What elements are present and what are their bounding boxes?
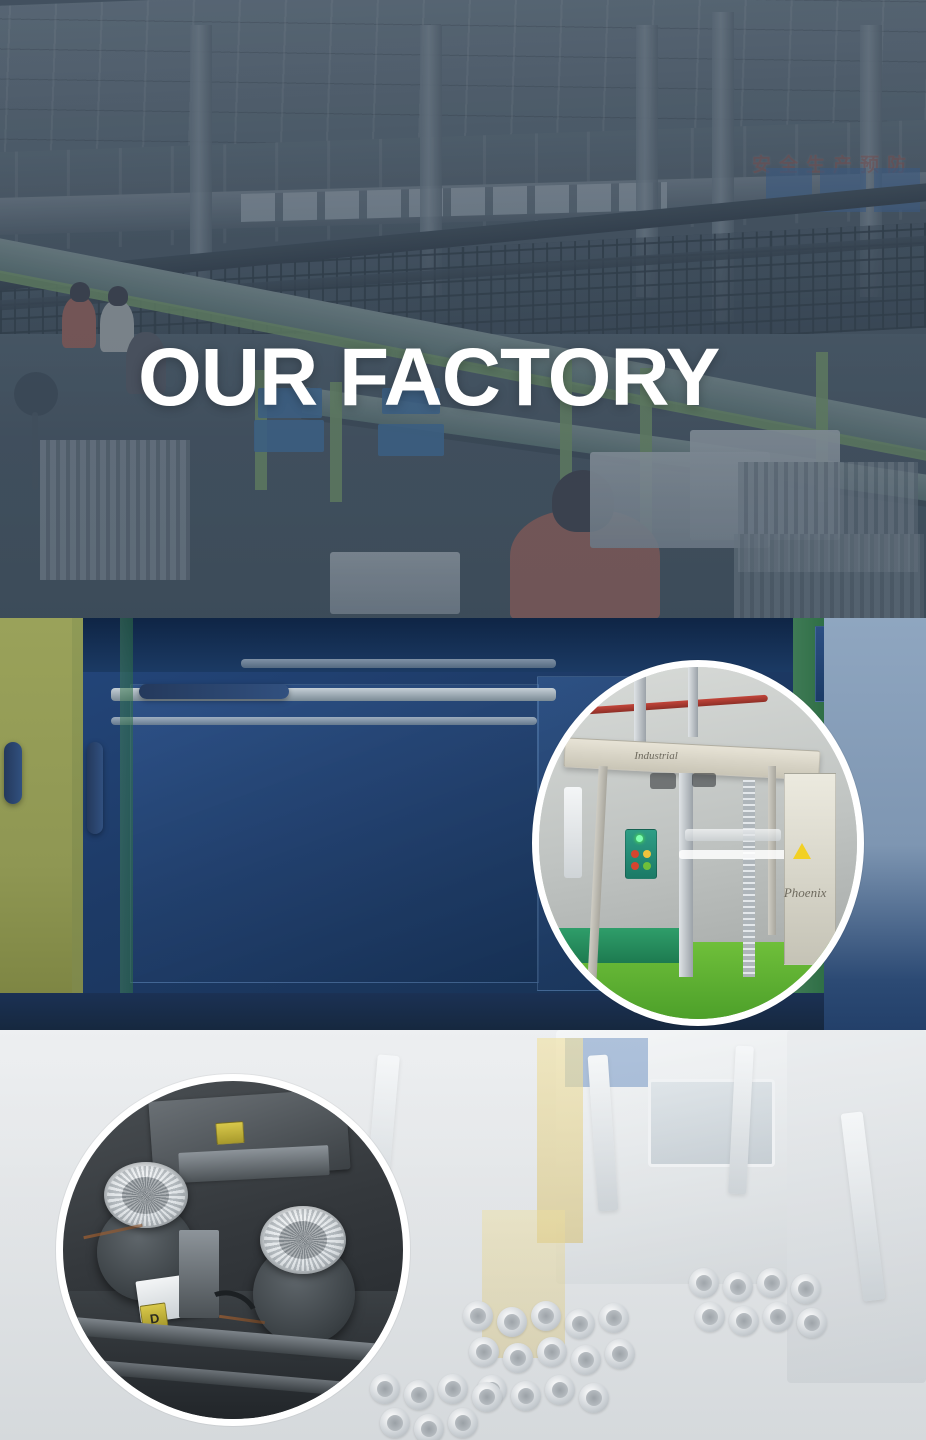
scene-cool-overlay <box>0 0 926 618</box>
door-handle <box>87 742 103 834</box>
yellow-id-label <box>215 1121 244 1145</box>
tie-bar <box>111 717 537 725</box>
machining-workshop-scene: D <box>0 1030 926 1440</box>
gripper-head <box>692 773 716 787</box>
green-column <box>120 618 133 1030</box>
tie-bar <box>241 659 556 668</box>
warning-triangle-icon <box>793 843 811 859</box>
inset-photo-robot-arm: Industrial <box>532 660 864 1026</box>
door-handle <box>4 742 22 804</box>
panel-our-factory: 安全生产预防 <box>0 0 926 618</box>
panel-injection-molding: Industrial <box>0 618 926 1030</box>
panel-raw-material: D RAW MATERIAL PROCESSING WORKSHOP <box>0 1030 926 1440</box>
status-led <box>636 835 643 842</box>
guard-rail-handle <box>139 684 289 699</box>
cnc-fixture-scene: D <box>63 1081 403 1419</box>
brand-text-phoenix: Phoenix <box>784 885 827 901</box>
robot-controller-cabinet <box>784 773 836 965</box>
energy-chain <box>743 780 755 977</box>
workpiece-teeth-right <box>264 1209 344 1271</box>
telescoping-axis <box>679 773 693 977</box>
hydraulic-cylinder <box>564 787 582 879</box>
control-button[interactable] <box>643 862 651 870</box>
factory-showcase-banner: 安全生产预防 <box>0 0 926 1440</box>
inset-photo-cnc-fixture: D <box>56 1074 410 1426</box>
light-tube <box>685 829 781 841</box>
page-title-our-factory: OUR FACTORY <box>138 337 719 419</box>
gripper-head <box>650 773 676 789</box>
control-button[interactable] <box>631 850 639 858</box>
workpiece-teeth-left <box>107 1166 185 1226</box>
brand-text-gantry: Industrial <box>634 750 677 762</box>
control-button[interactable] <box>643 850 651 858</box>
safety-guard-door <box>130 684 539 983</box>
robot-arm-scene: Industrial <box>539 667 857 1019</box>
control-button[interactable] <box>631 862 639 870</box>
light-tube <box>679 850 799 859</box>
handheld-controller[interactable] <box>625 829 657 879</box>
vertical-rod <box>688 667 698 737</box>
green-tray <box>552 928 686 963</box>
vertical-rod <box>634 667 646 751</box>
injection-machine-scene: Industrial <box>0 618 926 1030</box>
factory-hall-scene: 安全生产预防 <box>0 0 926 618</box>
